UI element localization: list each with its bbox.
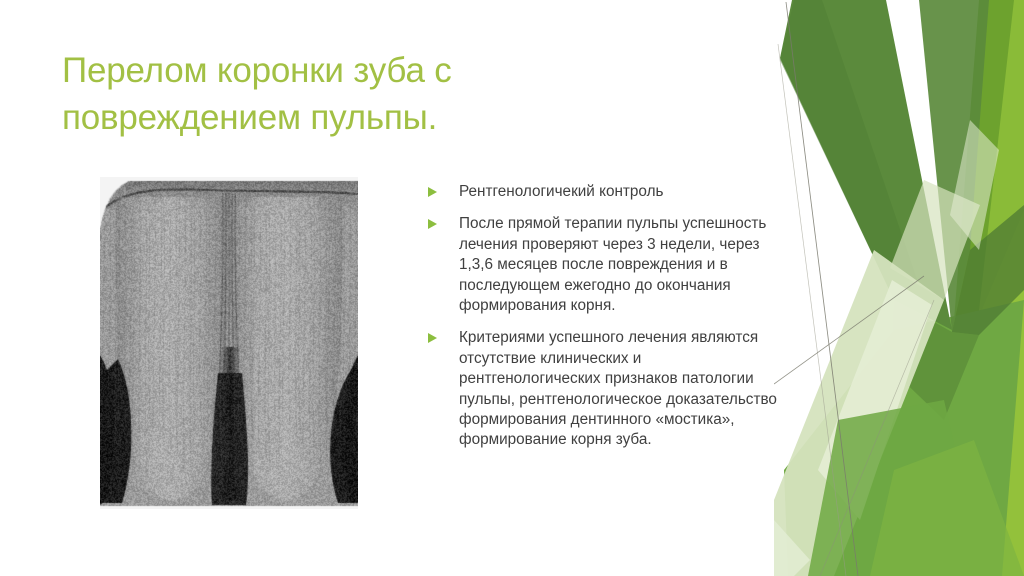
facet-shape-pale-wedge-inner [818,280,932,520]
facet-hairline-1 [786,2,858,576]
content-placeholder-bullets: Рентгенологичекий контроль После прямой … [426,182,784,451]
facet-shape-pale-wedge-top [950,120,999,250]
facet-theme-graphic [774,0,1024,576]
facet-shape-green-overlay-bottom [808,400,984,576]
list-item-label: Рентгенологичекий контроль [459,182,784,202]
dental-radiograph-canvas [100,177,358,509]
facet-hairline-3 [774,276,924,384]
facet-shape-dark-green-v-bottom [952,205,1024,335]
list-item: После прямой терапии пульпы успешность л… [426,214,784,316]
presentation-slide: Перелом коронки зуба с повреждением пуль… [0,0,1024,576]
list-item: Критериями успешного лечения являются от… [426,328,784,450]
facet-shape-mid-green-lower [784,300,1024,576]
list-item-label: Критериями успешного лечения являются от… [459,328,784,450]
triangle-right-bullet-icon [428,219,437,229]
facet-shape-v-core [892,300,979,420]
facet-shape-darker-sliver [780,0,924,300]
triangle-right-bullet-icon [428,333,437,343]
page-title: Перелом коронки зуба с повреждением пуль… [62,48,532,141]
facet-shape-dark-green-upper-right [919,0,989,332]
dental-radiograph-image [100,177,358,509]
list-item: Рентгенологичекий контроль [426,182,784,202]
facet-hairline-4 [820,300,934,576]
facet-shape-pale-sliver-bottom [774,520,810,576]
triangle-right-bullet-icon [428,187,437,197]
facet-shape-pale-wedge-large [774,250,944,576]
facet-shape-lower-yellow-green [869,210,1024,576]
facet-shape-dark-green-upper-left [780,0,952,330]
facet-shape-green-overlay-bottom-2 [870,440,1024,576]
facet-shape-pale-wedge-upper [890,180,980,300]
facet-shape-right-light [949,0,1024,576]
title-placeholder: Перелом коронки зуба с повреждением пуль… [62,48,532,141]
facet-shape-right-bright [934,0,1024,576]
list-item-label: После прямой терапии пульпы успешность л… [459,214,784,316]
facet-hairline-2 [778,44,846,576]
